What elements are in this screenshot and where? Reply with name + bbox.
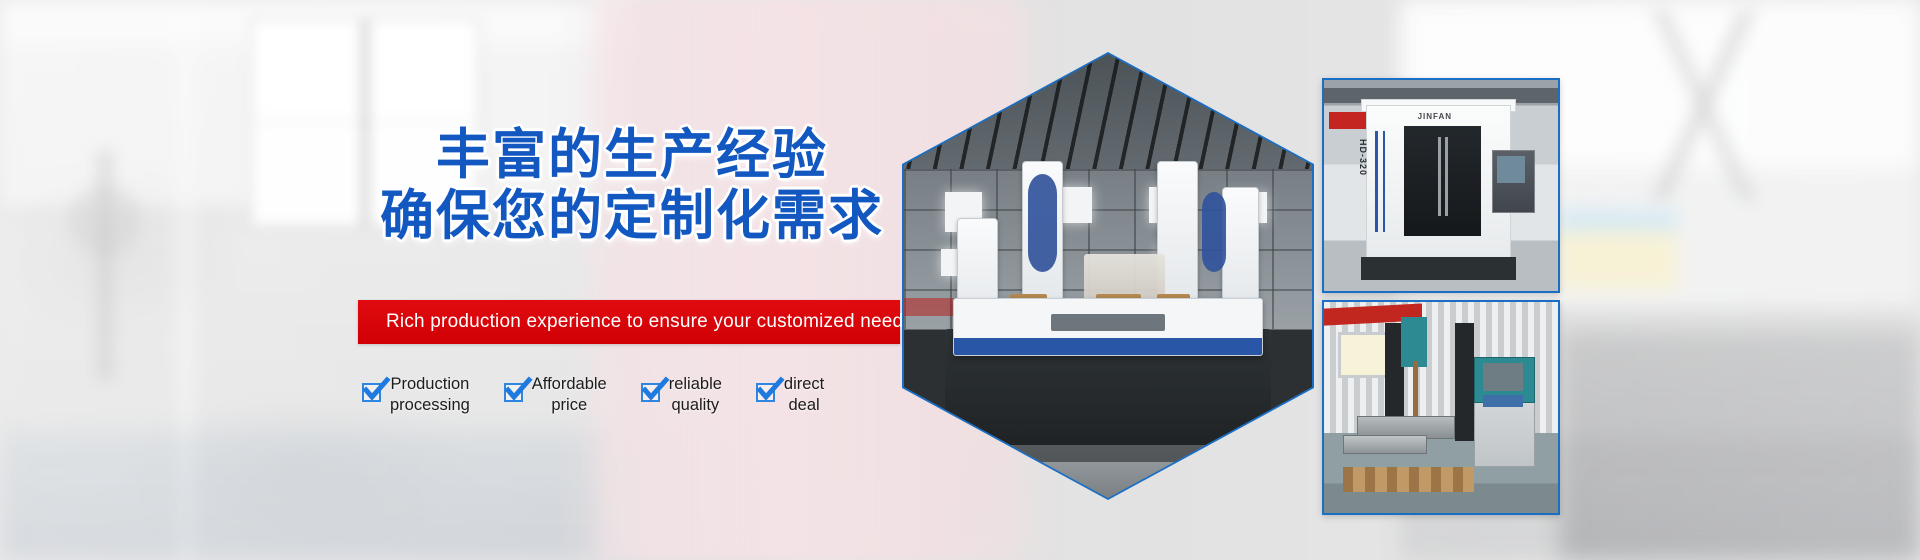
hero-banner: 丰富的生产经验 确保您的定制化需求 Rich production experi…: [0, 0, 1920, 560]
machine-panel: [1028, 174, 1057, 272]
feature-label: reliable quality: [669, 374, 722, 416]
headline-line-2: 确保您的定制化需求: [352, 186, 912, 247]
feature-label: direct deal: [784, 374, 824, 416]
feature-label: Production processing: [390, 374, 470, 416]
subtitle-red-band: Rich production experience to ensure you…: [358, 300, 900, 344]
feature-item-reliable-quality: reliable quality: [641, 374, 722, 416]
banner-headline: 丰富的生产经验 确保您的定制化需求: [352, 125, 912, 247]
feature-list: Production processing Affordable price r…: [362, 374, 824, 416]
machine-plinth: [1361, 257, 1515, 280]
machine-spindle: [1413, 361, 1418, 424]
machine-panel: [1202, 192, 1226, 272]
factory-floor: [904, 445, 1312, 498]
machine-head: [1401, 317, 1427, 368]
feature-item-direct-deal: direct deal: [756, 374, 824, 416]
machine-gantry-right: [1455, 323, 1474, 441]
hexagon-machine-photo: [902, 52, 1314, 500]
check-box-icon: [504, 383, 523, 402]
machine-control-screen: [1497, 156, 1525, 183]
headline-line-1: 丰富的生产经验: [352, 125, 912, 186]
machine-table: [1343, 435, 1427, 454]
machine-brand-label: JINFAN: [1418, 112, 1452, 121]
feature-item-affordable-price: Affordable price: [504, 374, 607, 416]
machine-pallet: [1343, 467, 1474, 492]
check-box-icon: [756, 383, 775, 402]
machine-control-screen: [1483, 363, 1523, 390]
machine-bed-slot: [1051, 314, 1165, 332]
machine-stripe: [1383, 131, 1385, 232]
check-box-icon: [641, 383, 660, 402]
thumbnail-hd320[interactable]: JINFAN HD-320: [1322, 78, 1560, 293]
feature-item-production-processing: Production processing: [362, 374, 470, 416]
factory-scene: [904, 54, 1312, 498]
feature-label: Affordable price: [532, 374, 607, 416]
thumbnail-boring-machine[interactable]: [1322, 300, 1560, 515]
check-box-icon: [362, 383, 381, 402]
machine-doors: [1404, 126, 1481, 236]
thumb-red-sign: [1329, 112, 1366, 129]
subtitle-text: Rich production experience to ensure you…: [358, 311, 913, 333]
factory-roof: [904, 54, 1312, 174]
machine-stripe: [1375, 131, 1378, 232]
machine-model-label: HD-320: [1358, 139, 1368, 176]
machine-control-panel: [1483, 395, 1523, 408]
hexagon-photo-clip: [904, 54, 1312, 498]
